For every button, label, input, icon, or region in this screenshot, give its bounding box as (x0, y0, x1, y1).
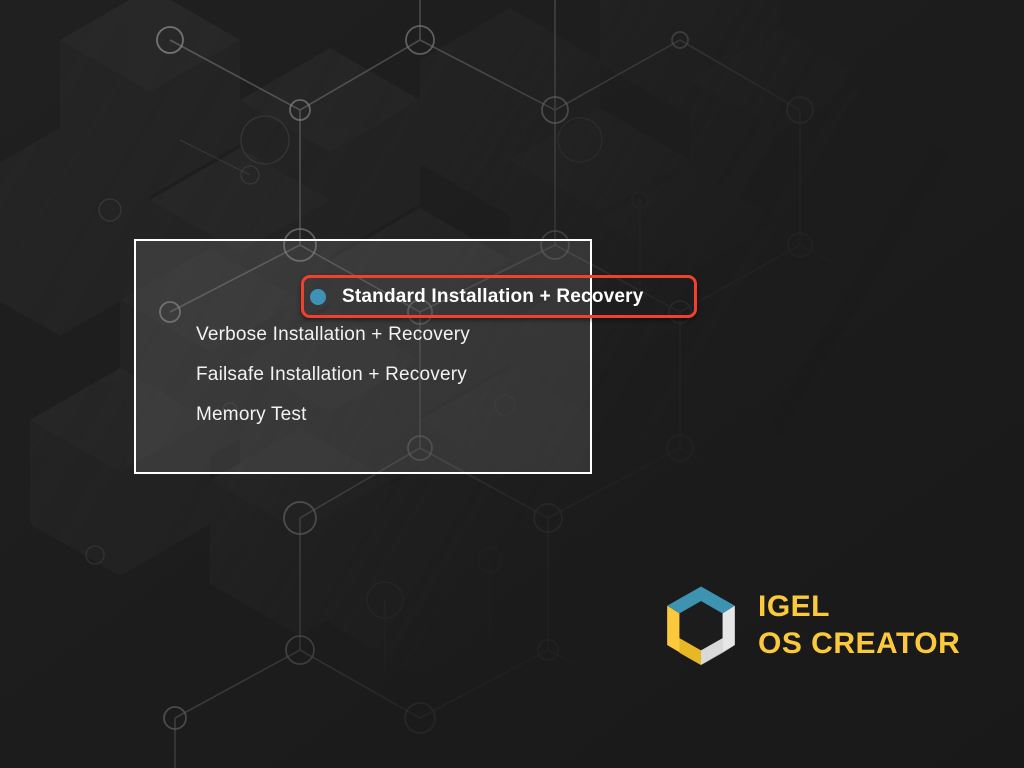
menu-item-failsafe-installation[interactable]: Failsafe Installation + Recovery (167, 355, 467, 395)
igel-hexagon-logo-icon (662, 585, 740, 665)
menu-item-label: Verbose Installation + Recovery (196, 324, 470, 346)
boot-splash-screen: Standard Installation + Recovery Verbose… (0, 0, 1024, 768)
logo-product-name: OS CREATOR (758, 629, 960, 659)
logo-brand-name: IGEL (758, 592, 960, 622)
menu-item-standard-installation[interactable]: Standard Installation + Recovery (301, 275, 697, 318)
menu-item-label: Memory Test (196, 404, 307, 426)
boot-menu-panel: Standard Installation + Recovery Verbose… (134, 239, 592, 474)
menu-item-label: Failsafe Installation + Recovery (196, 364, 467, 386)
menu-item-memory-test[interactable]: Memory Test (167, 395, 307, 435)
boot-menu-list: Standard Installation + Recovery Verbose… (136, 241, 590, 472)
selection-bullet-icon (304, 289, 342, 305)
menu-item-verbose-installation[interactable]: Verbose Installation + Recovery (167, 315, 470, 355)
igel-wordmark: IGEL OS CREATOR (758, 592, 960, 659)
menu-item-label: Standard Installation + Recovery (342, 286, 644, 308)
igel-os-creator-logo: IGEL OS CREATOR (662, 584, 972, 666)
